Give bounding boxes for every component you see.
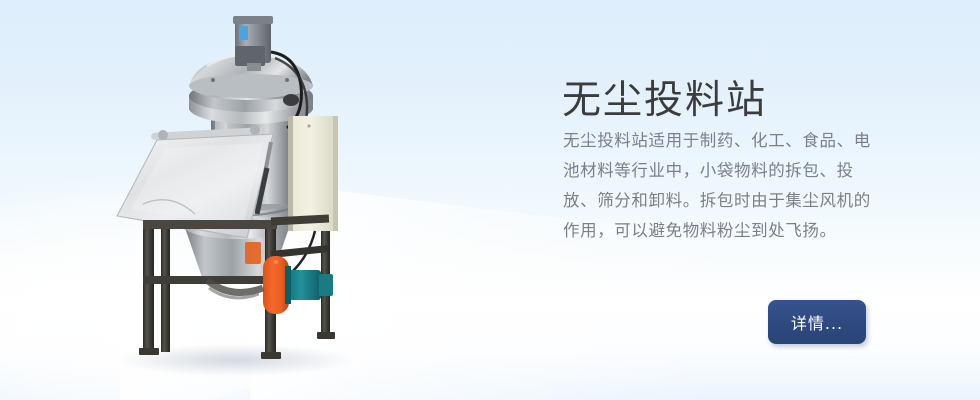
cable-gland: [283, 94, 299, 106]
product-image: [95, 8, 395, 388]
top-motor-cap: [233, 16, 273, 24]
vibration-motor-secondary: [245, 242, 261, 264]
control-box: [288, 116, 338, 231]
frame-foot-right: [261, 352, 281, 359]
frame-foot-left: [139, 348, 159, 355]
frame-leg-back-left: [161, 220, 170, 352]
frame-leg-front-left: [143, 222, 154, 352]
control-box-edge-right: [333, 116, 338, 231]
control-box-screw-top: [307, 124, 310, 127]
dome-hood-rim: [189, 74, 313, 98]
page-title: 无尘投料站: [562, 78, 767, 124]
banner-text-content: 无尘投料站 无尘投料站适用于制药、化工、食品、电 池材料等行业中，小袋物料的拆包…: [562, 0, 962, 400]
vibration-motor-cap: [319, 274, 333, 296]
frame-rail-top-front: [143, 220, 277, 229]
description-line-4: 作用，可以避免物料粉尘到处飞扬。: [563, 216, 875, 246]
top-motor-flange: [247, 63, 261, 71]
dome-bolt-right: [285, 78, 289, 82]
product-description: 无尘投料站适用于制药、化工、食品、电 池材料等行业中，小袋物料的拆包、投 放、筛…: [563, 126, 875, 246]
description-line-3: 放、筛分和卸料。拆包时由于集尘风机的: [563, 186, 875, 216]
vibration-motor-housing: [287, 270, 321, 300]
hinge-bracket-left: [158, 130, 168, 140]
vibration-motor-flange: [285, 266, 291, 304]
details-button[interactable]: 详情...: [768, 300, 866, 344]
frame-foot-back-right: [317, 332, 335, 339]
description-line-1: 无尘投料站适用于制药、化工、食品、电: [563, 126, 875, 156]
dome-bolt-left: [211, 78, 215, 82]
vibration-motor-highlight: [274, 260, 278, 264]
control-box-edge: [288, 116, 293, 231]
product-banner: 无尘投料站 无尘投料站适用于制药、化工、食品、电 池材料等行业中，小袋物料的拆包…: [0, 0, 980, 400]
hinge-bracket-right: [250, 125, 260, 135]
top-motor-label: [239, 26, 248, 40]
description-line-2: 池材料等行业中，小袋物料的拆包、投: [563, 156, 875, 186]
